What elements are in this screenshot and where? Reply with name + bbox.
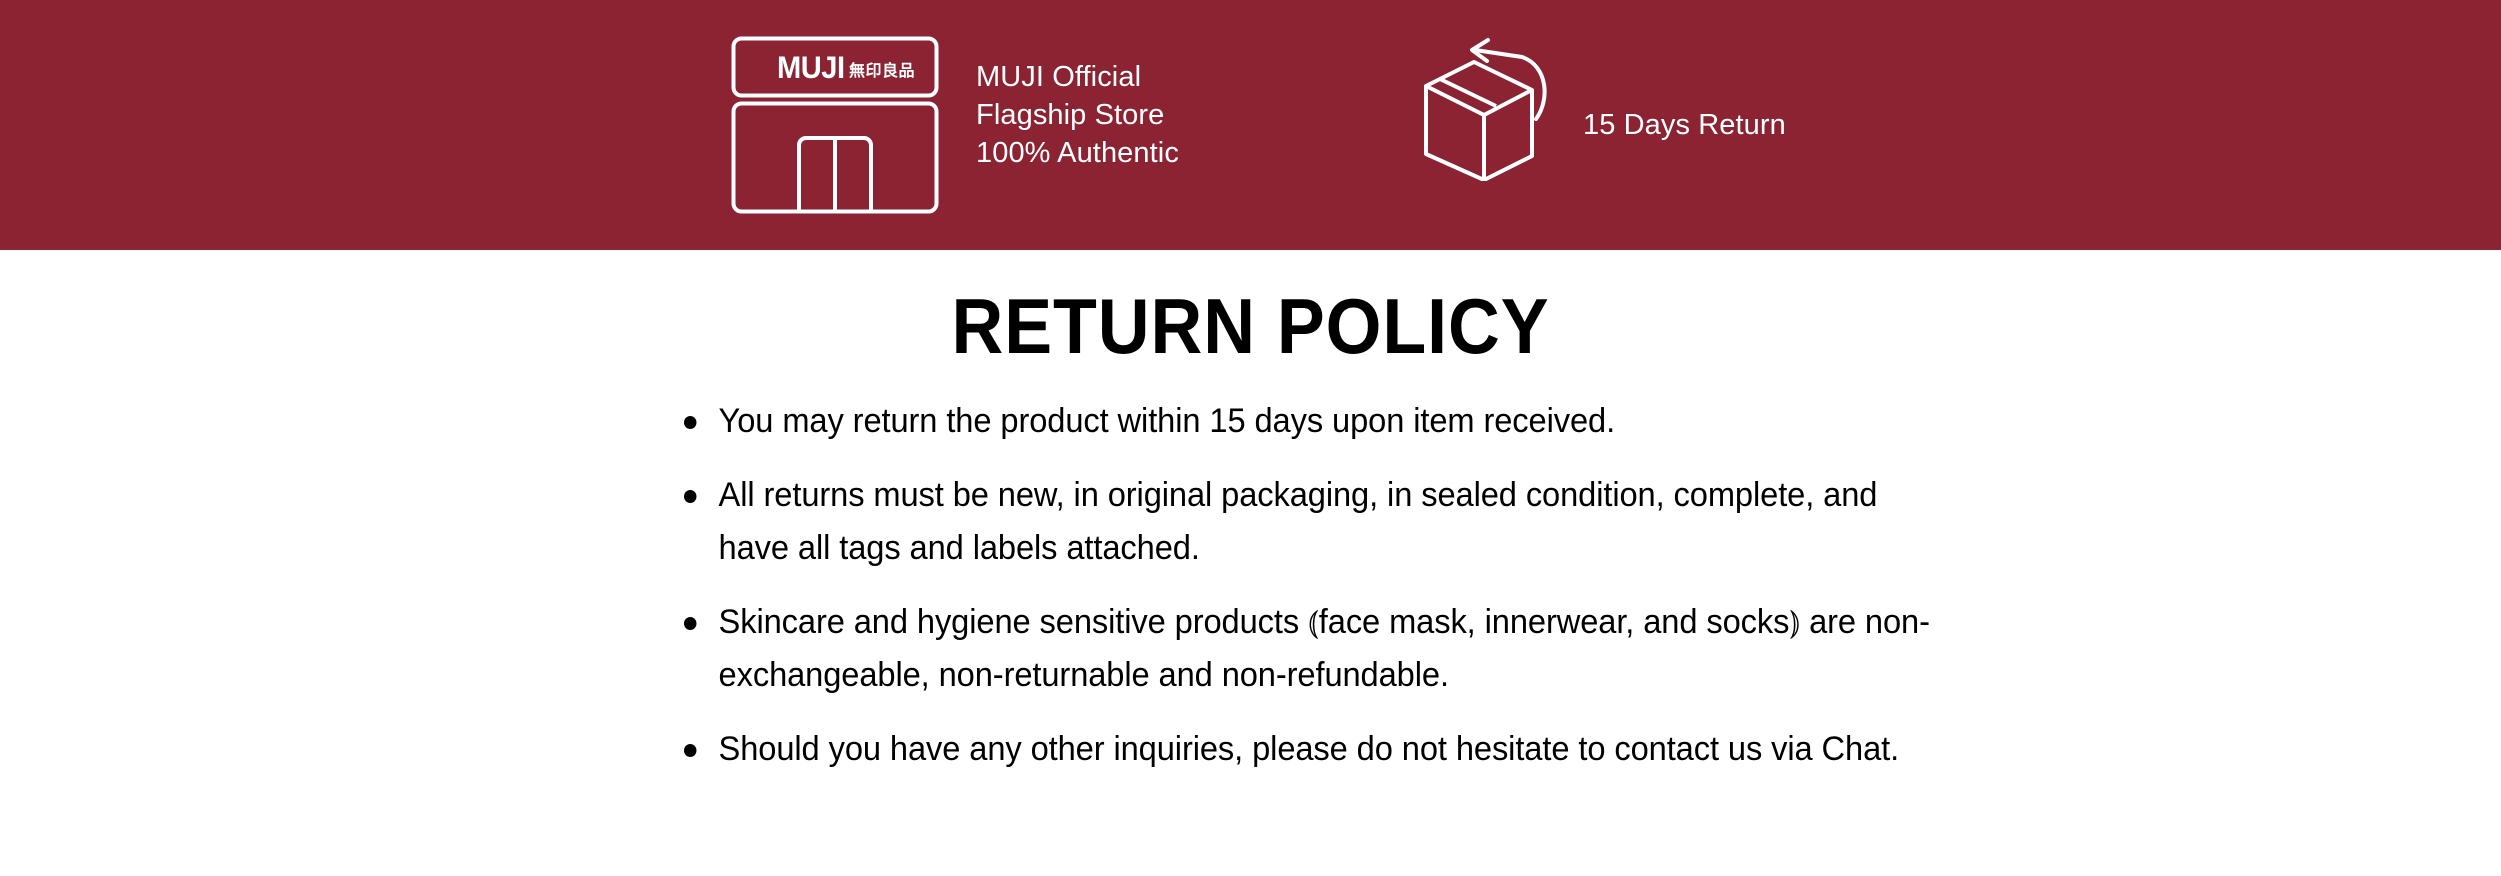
return-badge-group: 15 Days Return <box>1418 36 1818 216</box>
list-item: Skincare and hygiene sensitive products … <box>684 596 1932 702</box>
list-item-text: You may return the product within 15 day… <box>719 395 1932 448</box>
bullet-dot-icon <box>684 744 696 757</box>
store-badge-group: MUJI 無印良品 MUJI Official Flagship Store 1… <box>731 36 1201 216</box>
bullet-dot-icon <box>684 490 696 503</box>
return-badge-label: 15 Days Return <box>1583 108 1786 142</box>
list-item: Should you have any other inquiries, ple… <box>684 723 1932 776</box>
list-item-text: Skincare and hygiene sensitive products … <box>719 596 1932 702</box>
store-badge-line-1: MUJI Official <box>976 58 1179 96</box>
svg-text:無印良品: 無印良品 <box>849 61 915 80</box>
policy-bullet-list: You may return the product within 15 day… <box>684 395 1984 776</box>
return-policy-banner-page: MUJI 無印良品 MUJI Official Flagship Store 1… <box>0 0 2501 876</box>
list-item: All returns must be new, in original pac… <box>684 469 1932 575</box>
muji-storefront-icon: MUJI 無印良品 <box>731 36 939 214</box>
store-badge-line-3: 100% Authentic <box>976 134 1179 172</box>
bullet-dot-icon <box>684 617 696 630</box>
policy-section: RETURN POLICY You may return the product… <box>0 250 2501 876</box>
list-item-text: All returns must be new, in original pac… <box>719 469 1932 575</box>
page-title: RETURN POLICY <box>100 282 2401 370</box>
banner-content: MUJI 無印良品 MUJI Official Flagship Store 1… <box>0 0 2501 250</box>
svg-text:MUJI: MUJI <box>777 50 845 85</box>
list-item-text: Should you have any other inquiries, ple… <box>719 723 1932 776</box>
store-badge-text: MUJI Official Flagship Store 100% Authen… <box>976 58 1179 172</box>
bullet-dot-icon <box>684 416 696 429</box>
top-banner: MUJI 無印良品 MUJI Official Flagship Store 1… <box>0 0 2501 250</box>
list-item: You may return the product within 15 day… <box>684 395 1932 448</box>
return-box-icon <box>1418 36 1573 181</box>
store-badge-line-2: Flagship Store <box>976 96 1179 134</box>
